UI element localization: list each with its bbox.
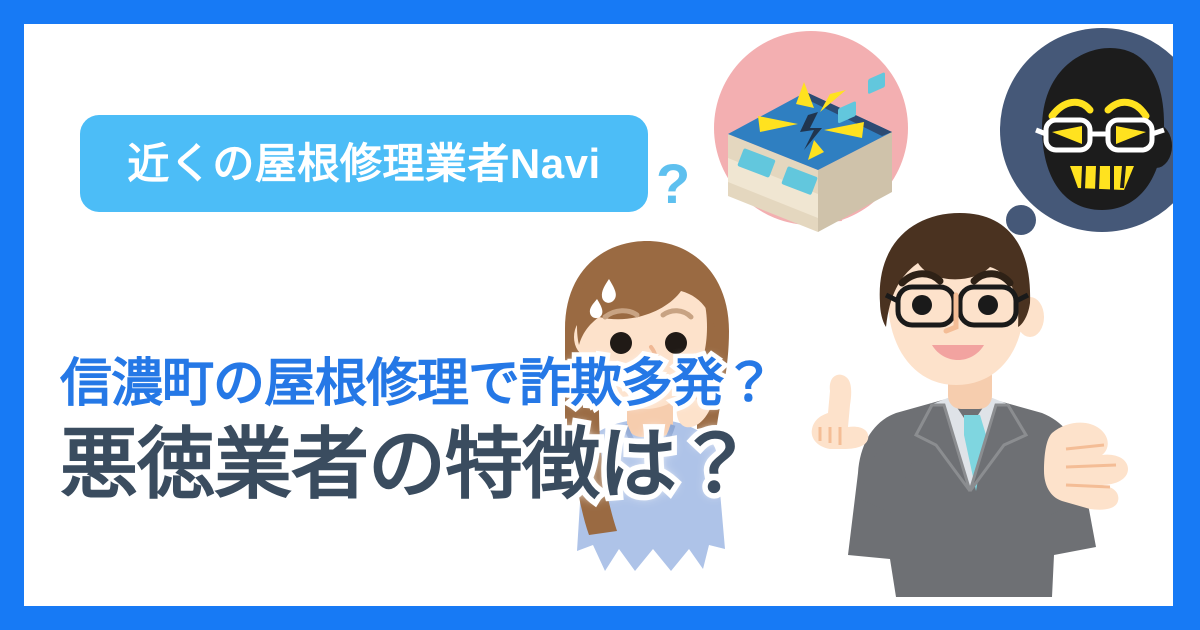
site-name-label: 近くの屋根修理業者Navi [127, 143, 600, 185]
businessman-illustration [804, 199, 1134, 599]
site-name-badge[interactable]: 近くの屋根修理業者Navi [80, 115, 648, 212]
badge-question-mark-icon: ? [656, 156, 690, 212]
worried-woman-illustration [521, 219, 781, 606]
inner-canvas: 近くの屋根修理業者Navi ? 信濃町の屋根修理で詐欺多発？ 悪徳業者の特徴は？ [24, 24, 1173, 606]
eyecatch-image: 近くの屋根修理業者Navi ? 信濃町の屋根修理で詐欺多発？ 悪徳業者の特徴は？ [0, 0, 1200, 630]
